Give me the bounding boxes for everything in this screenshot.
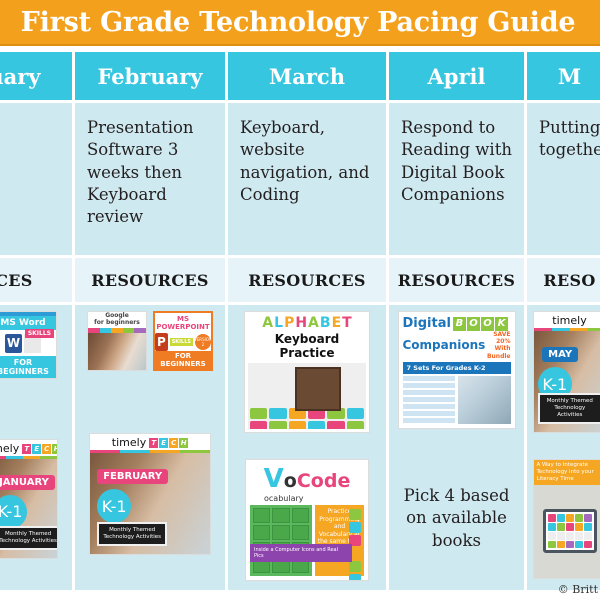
- thumb-timely-tech-may[interactable]: timely MAY K-1 Monthly Themed Technology…: [533, 311, 600, 433]
- tt-feb-board-text: Monthly Themed Technology Activities: [97, 522, 167, 546]
- dbc-body: [403, 376, 511, 424]
- tt-jan-letter-h: H: [52, 444, 58, 454]
- ppt-footer: FOR BEGINNERS: [155, 351, 211, 369]
- topic-april: Respond to Reading with Digital Book Com…: [389, 103, 524, 255]
- resources-january: MS Word W SKILLS FOR BEGINNERS timely T: [0, 305, 72, 590]
- alpha-title: ALPHABET: [248, 315, 366, 331]
- february-thumb-row-1: Google for beginners MS POWERPOINT P SKI…: [79, 311, 221, 371]
- ppt-body: P SKILLS VERSION 2: [155, 333, 211, 351]
- tt-jan-brand: timely: [0, 442, 19, 455]
- tt-feb-header: timely TECH: [90, 434, 210, 450]
- tt-jan-letter-e: E: [32, 444, 41, 454]
- february-thumb-row-2: timely TECH FEBRUARY K-1 Monthly Themed …: [79, 433, 221, 555]
- word-title: MS Word: [0, 316, 56, 330]
- goog-subtitle-text: for beginners: [94, 319, 140, 326]
- thumb-vocode-vocabulary[interactable]: VoCode ocabulary Practice Programming an…: [245, 459, 369, 581]
- april-note: Pick 4 based on available books: [393, 485, 520, 552]
- lit-header: A Way to Integrate Technology into your …: [534, 460, 600, 485]
- vocode-arrow-label: Inside a Computer Icons and Real Pics: [250, 544, 352, 562]
- goog-photo: [88, 333, 146, 370]
- dbc-sets-label: 7 Sets For Grades K-2: [403, 362, 511, 374]
- tt-jan-tech-word: T E C H: [22, 444, 58, 454]
- tt-feb-grade-badge: K-1: [97, 489, 131, 523]
- ppt-title: MS POWERPOINT: [155, 313, 211, 333]
- tt-jan-letter-c: C: [42, 444, 51, 454]
- january-thumb-row-1: MS Word W SKILLS FOR BEGINNERS: [0, 311, 68, 379]
- vocode-grid-graphic: [250, 505, 312, 576]
- dbc-subtitle: Companions: [403, 338, 486, 352]
- dbc-book-list: [403, 376, 455, 424]
- thumb-timely-tech-january[interactable]: timely T E C H JANUARY K-1: [0, 439, 58, 559]
- month-header-april: April: [389, 52, 524, 100]
- month-header-march: March: [228, 52, 386, 100]
- dbc-save-badge: SAVE 20% With Bundle: [485, 331, 510, 360]
- topic-february: Presentation Software 3 weeks then Keybo…: [75, 103, 225, 255]
- resources-content-row: MS Word W SKILLS FOR BEGINNERS timely T: [0, 305, 600, 590]
- resources-label-april: RESOURCES: [389, 258, 524, 302]
- vocode-v: V: [264, 464, 284, 494]
- vocode-subtitle: ocabulary: [264, 494, 304, 503]
- tt-feb-brand: timely: [112, 436, 146, 449]
- month-header-february: February: [75, 52, 225, 100]
- thumb-digital-book-companions[interactable]: Digital BOOK Companions SAVE 20% With Bu…: [398, 311, 516, 429]
- tt-feb-month-badge: FEBRUARY: [97, 469, 168, 484]
- thumb-timely-tech-february[interactable]: timely TECH FEBRUARY K-1 Monthly Themed …: [89, 433, 211, 555]
- month-header-row: anuary February March April M: [0, 52, 600, 100]
- topic-row: ng 3henrd Presentation Software 3 weeks …: [0, 103, 600, 255]
- vocode-o: o: [284, 470, 297, 492]
- resources-label-february: RESOURCES: [75, 258, 225, 302]
- ppt-skills-badge: SKILLS: [170, 338, 193, 346]
- copyright-notice: © Britt: [558, 583, 598, 596]
- dbc-title-digital: Digital: [403, 316, 451, 331]
- tt-may-brand: timely: [552, 314, 586, 327]
- topic-january: ng 3henrd: [0, 103, 72, 255]
- tt-jan-month-badge: JANUARY: [0, 475, 55, 490]
- month-header-may: M: [527, 52, 600, 100]
- resources-label-row: URCES RESOURCES RESOURCES RESOURCES RESO: [0, 258, 600, 302]
- topic-march: Keyboard, website navigation, and Coding: [228, 103, 386, 255]
- thumb-integrate-technology-literacy[interactable]: A Way to Integrate Technology into your …: [533, 459, 600, 579]
- tt-jan-board-text: Monthly Themed Technology Activities: [0, 526, 58, 550]
- powerpoint-icon: P: [155, 333, 168, 351]
- word-skills-badge: SKILLS: [25, 329, 54, 338]
- tt-feb-tech-word: TECH: [149, 438, 188, 448]
- goog-title: Google for beginners: [88, 312, 146, 328]
- tt-jan-header: timely T E C H: [0, 440, 57, 456]
- page-title: First Grade Technology Pacing Guide: [21, 7, 576, 38]
- resources-february: Google for beginners MS POWERPOINT P SKI…: [75, 305, 225, 590]
- resources-label-march: RESOURCES: [228, 258, 386, 302]
- resources-label-may: RESO: [527, 258, 600, 302]
- tt-jan-letter-t: T: [22, 444, 31, 454]
- dbc-header: Digital BOOK: [403, 316, 511, 331]
- tt-may-month-badge: MAY: [542, 347, 578, 362]
- alpha-screen-graphic: [295, 367, 341, 411]
- dbc-photo: [458, 376, 511, 424]
- ppt-version-badge: VERSION 2: [195, 334, 211, 350]
- vocode-body: Practice Programming and Vocabulary at t…: [250, 505, 364, 576]
- january-thumb-row-2: timely T E C H JANUARY K-1: [0, 439, 68, 559]
- word-icon: W: [5, 334, 22, 353]
- tablet-graphic: [543, 509, 597, 553]
- tt-may-photo: MAY K-1 Monthly Themed Technology Activi…: [534, 331, 600, 432]
- tt-feb-photo: FEBRUARY K-1 Monthly Themed Technology A…: [90, 453, 210, 554]
- tt-may-header: timely: [534, 312, 600, 328]
- pacing-guide-page: First Grade Technology Pacing Guide anua…: [0, 0, 600, 600]
- thumb-alphabet-keyboard-practice[interactable]: ALPHABET Keyboard Practice: [244, 311, 370, 433]
- resources-april: Digital BOOK Companions SAVE 20% With Bu…: [389, 305, 524, 590]
- alpha-keyboard-graphic: [248, 363, 366, 429]
- word-footer: FOR BEGINNERS: [0, 356, 56, 378]
- thumb-ms-powerpoint-skills-for-beginners[interactable]: MS POWERPOINT P SKILLS VERSION 2 FOR BEG…: [153, 311, 213, 371]
- alpha-subtitle: Keyboard Practice: [248, 332, 366, 360]
- vocode-code: Code: [297, 470, 350, 492]
- page-title-bar: First Grade Technology Pacing Guide: [0, 0, 600, 46]
- tt-jan-photo: JANUARY K-1 Monthly Themed Technology Ac…: [0, 459, 57, 558]
- topic-may: Puttingtogethe: [527, 103, 600, 255]
- resources-label-january: URCES: [0, 258, 72, 302]
- month-header-january: anuary: [0, 52, 72, 100]
- resources-may: timely MAY K-1 Monthly Themed Technology…: [527, 305, 600, 590]
- vocode-title: VoCode: [264, 464, 351, 494]
- lit-photo: [534, 485, 600, 578]
- tt-may-board-text: Monthly Themed Technology Activities: [538, 393, 600, 424]
- tt-jan-grade-badge: K-1: [0, 495, 27, 529]
- thumb-google-for-beginners[interactable]: Google for beginners: [87, 311, 147, 371]
- dbc-title-book: BOOK: [453, 317, 508, 331]
- thumb-ms-word-skills-for-beginners[interactable]: MS Word W SKILLS FOR BEGINNERS: [0, 311, 57, 379]
- resources-march: ALPHABET Keyboard Practice: [228, 305, 386, 590]
